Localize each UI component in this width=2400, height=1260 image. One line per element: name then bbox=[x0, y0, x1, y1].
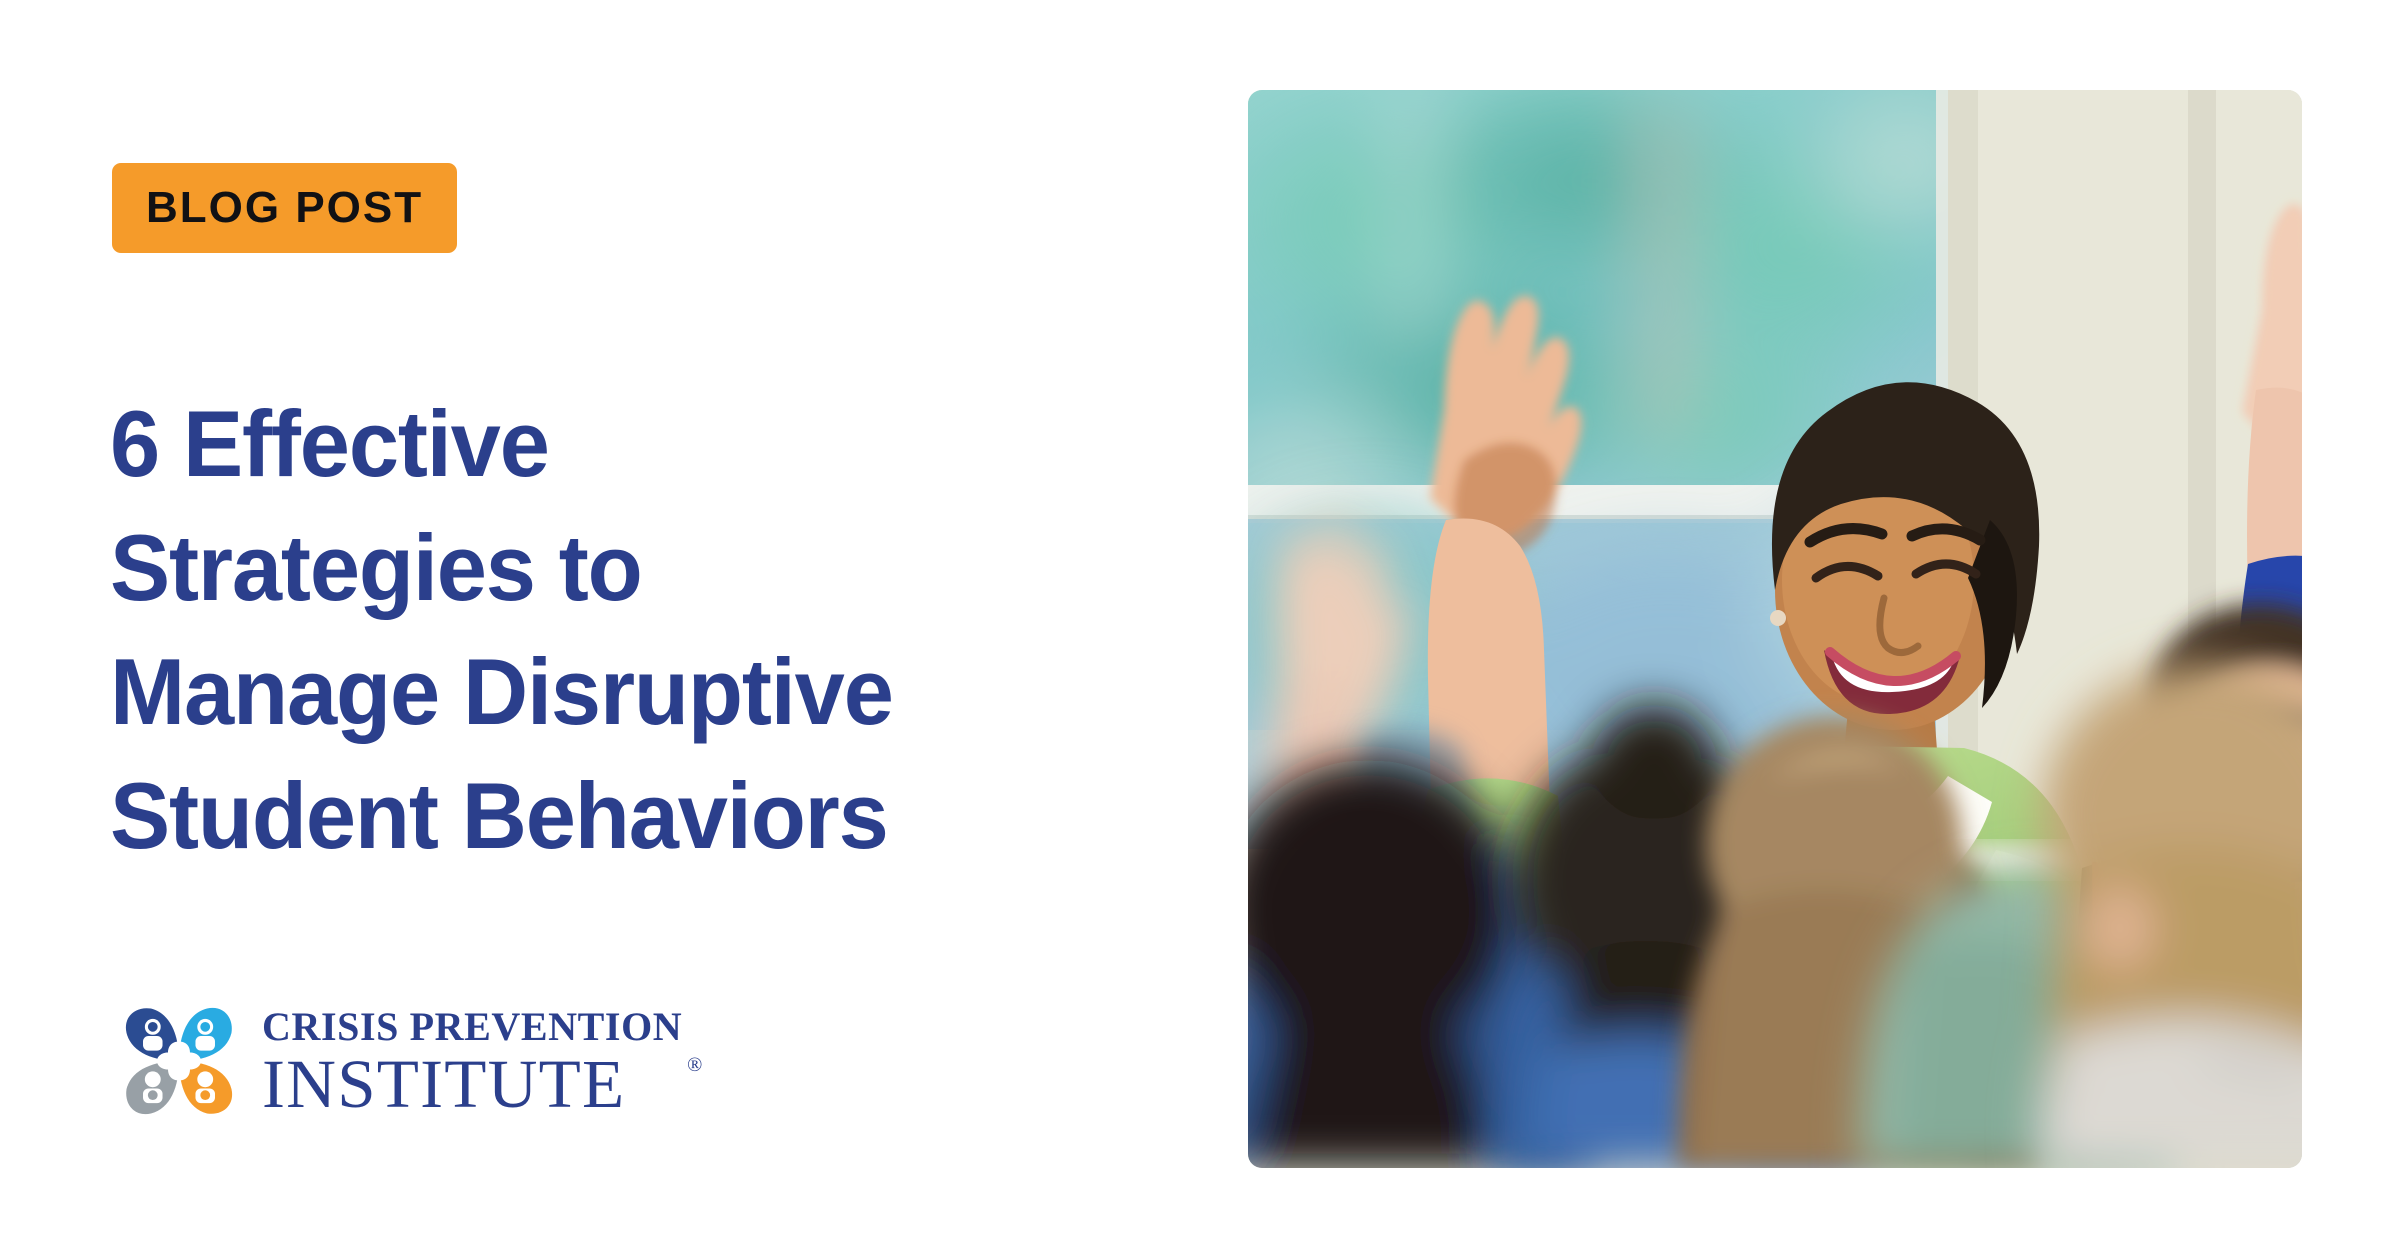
logo-wordmark: CRISIS PREVENTION INSTITUTE ® bbox=[262, 1003, 682, 1119]
page-title: 6 Effective Strategies to Manage Disrupt… bbox=[110, 382, 1130, 878]
content-column: BLOG POST 6 Effective Strategies to Mana… bbox=[0, 0, 1180, 1260]
brand-logo: CRISIS PREVENTION INSTITUTE ® bbox=[118, 1000, 682, 1122]
headline-line-3: Manage Disruptive bbox=[110, 630, 1089, 754]
classroom-photo bbox=[1248, 90, 2302, 1168]
cpi-pinwheel-icon bbox=[118, 1000, 240, 1122]
blog-post-promo-card: BLOG POST 6 Effective Strategies to Mana… bbox=[0, 0, 2400, 1260]
logo-line-crisis-prevention: CRISIS PREVENTION bbox=[262, 1005, 682, 1049]
logo-line-institute-wrap: INSTITUTE ® bbox=[262, 1049, 682, 1119]
logo-line-institute: INSTITUTE bbox=[262, 1046, 625, 1122]
blog-post-badge: BLOG POST bbox=[112, 163, 457, 253]
registered-trademark-icon: ® bbox=[687, 1055, 702, 1075]
classroom-photo-illustration bbox=[1248, 90, 2302, 1168]
headline-line-2: Strategies to bbox=[110, 506, 1089, 630]
headline-line-1: 6 Effective bbox=[110, 382, 1089, 506]
blog-post-badge-label: BLOG POST bbox=[146, 186, 423, 230]
headline-line-4: Student Behaviors bbox=[110, 754, 1089, 878]
